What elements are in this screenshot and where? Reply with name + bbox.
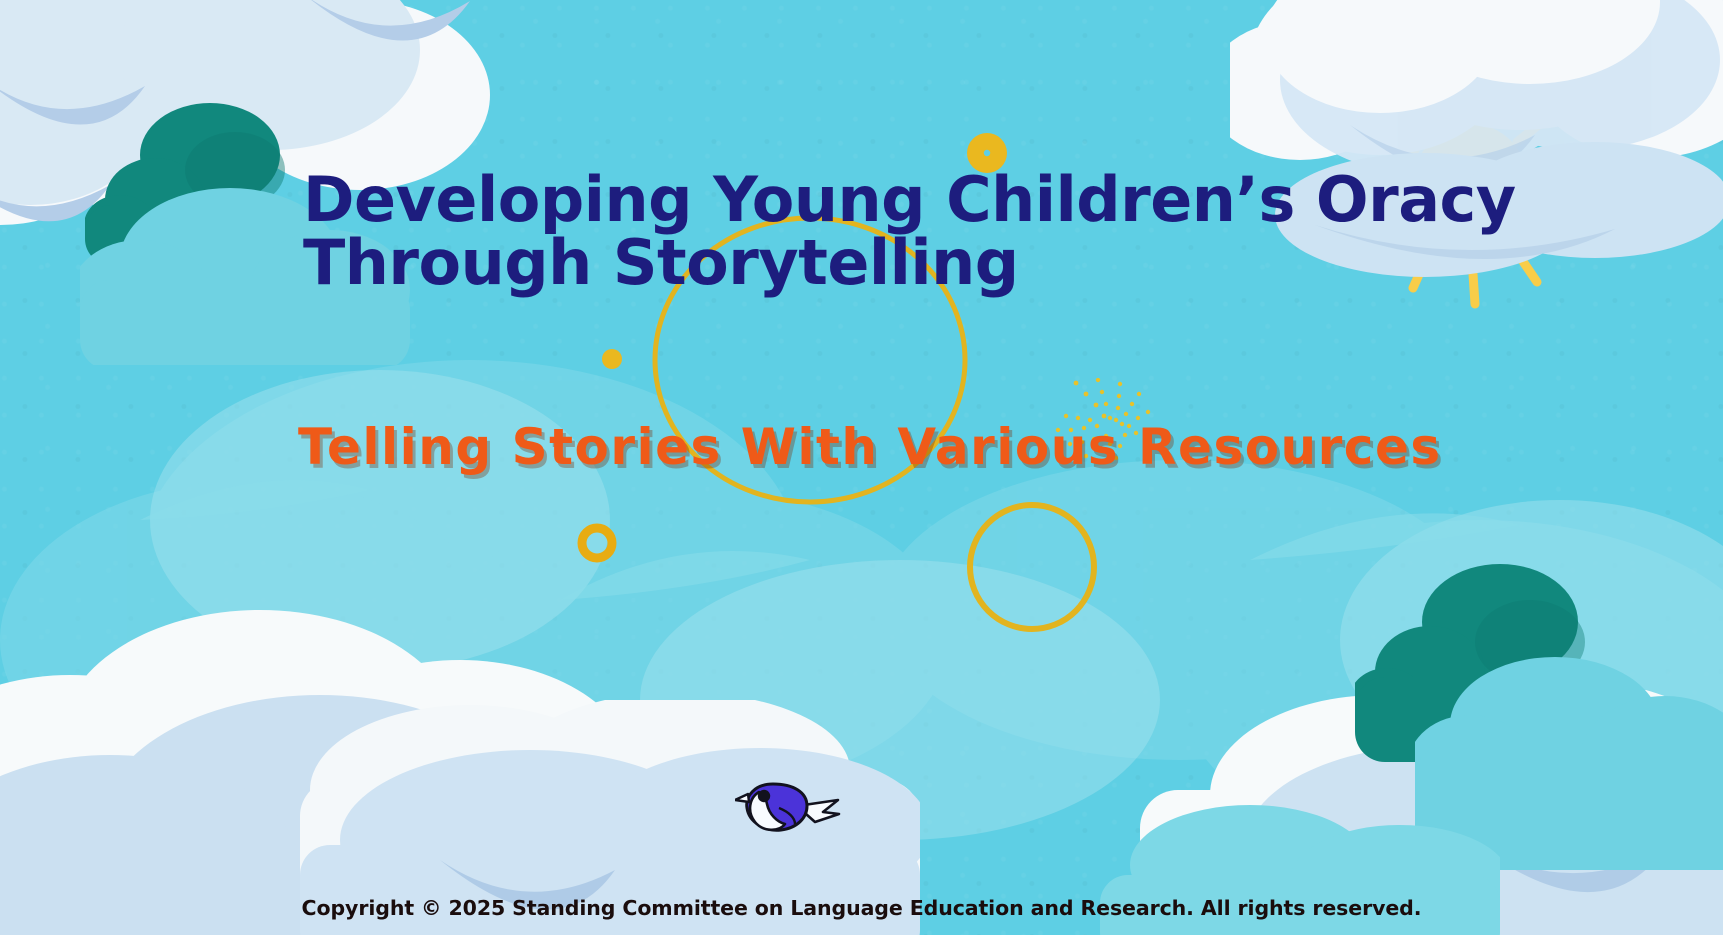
- copyright-notice: Copyright © 2025 Standing Committee on L…: [0, 896, 1723, 920]
- yellow-ring-small: [965, 500, 1100, 635]
- slide-canvas: Developing Young Children’s Oracy Throug…: [0, 0, 1723, 935]
- bird: [735, 772, 845, 852]
- yellow-dot-small: [601, 348, 623, 370]
- page-title: Developing Young Children’s Oracy Throug…: [303, 168, 1363, 294]
- yellow-ring-tiny: [573, 519, 621, 567]
- title-line-1: Developing Young Children’s Oracy: [303, 168, 1363, 231]
- subtitle: Telling Stories With Various Resources: [298, 418, 1418, 476]
- title-line-2: Through Storytelling: [303, 231, 1363, 294]
